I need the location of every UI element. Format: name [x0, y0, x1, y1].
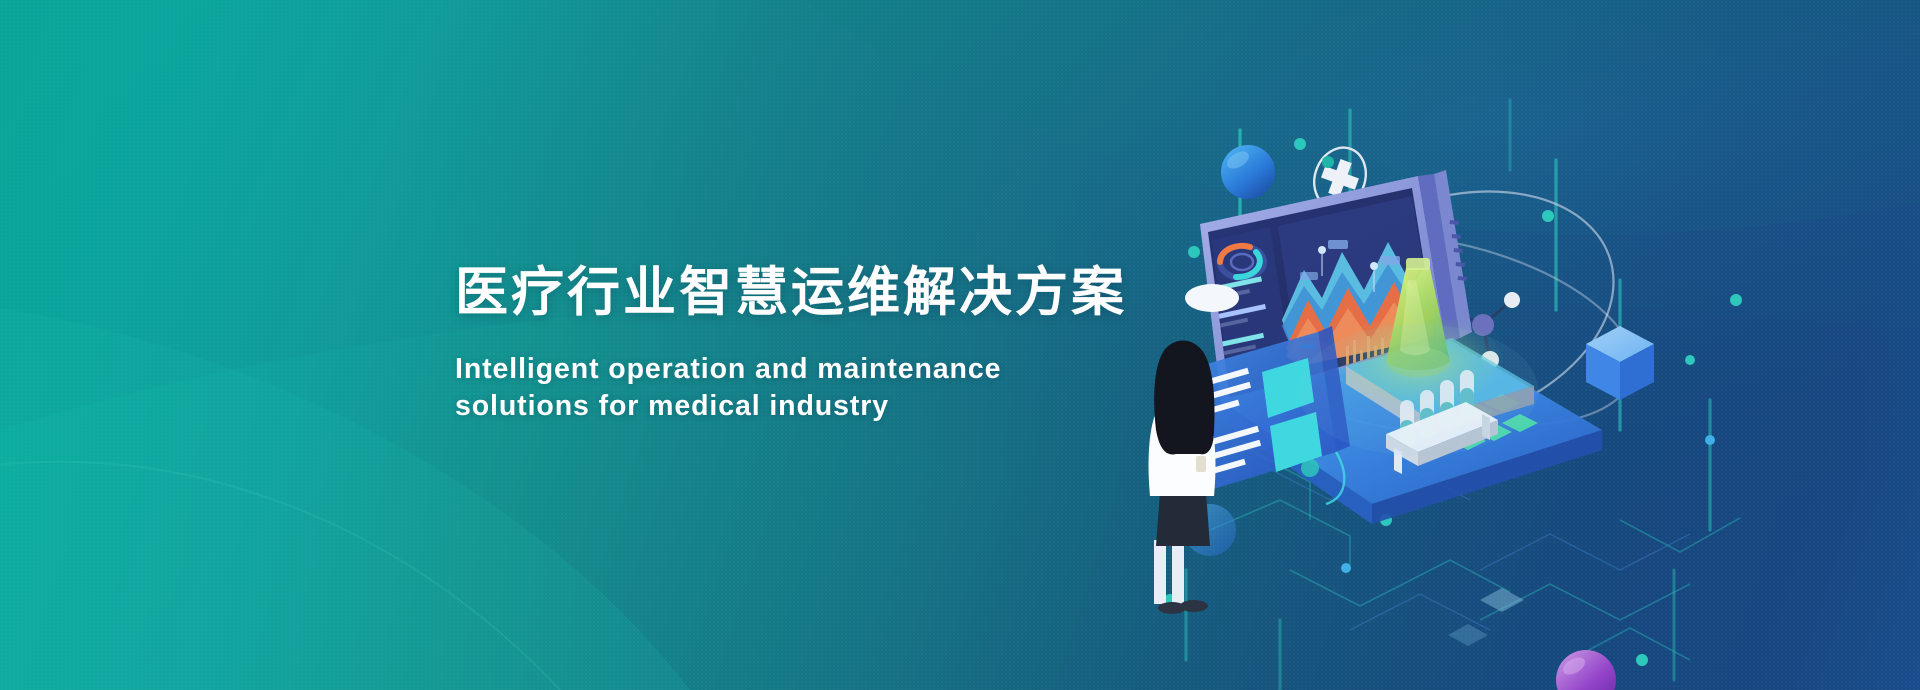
page-subtitle: Intelligent operation and maintenance so…	[455, 351, 1155, 427]
lab-technician	[1149, 341, 1216, 615]
sphere-blue	[1221, 145, 1275, 199]
molecule-node	[1504, 292, 1520, 308]
subtitle-line-1: Intelligent operation and maintenance	[455, 353, 1001, 385]
hero-banner: 医疗行业智慧运维解决方案 Intelligent operation and m…	[0, 0, 1920, 690]
illustration-svg	[1150, 100, 1770, 680]
hero-illustration	[1150, 100, 1770, 680]
subtitle-line-2: solutions for medical industry	[455, 390, 889, 422]
page-title: 医疗行业智慧运维解决方案	[455, 262, 1215, 325]
foreground-glow	[1298, 324, 1538, 456]
hero-copy: 医疗行业智慧运维解决方案 Intelligent operation and m…	[455, 262, 1215, 426]
monitor-lamp	[1185, 284, 1239, 312]
